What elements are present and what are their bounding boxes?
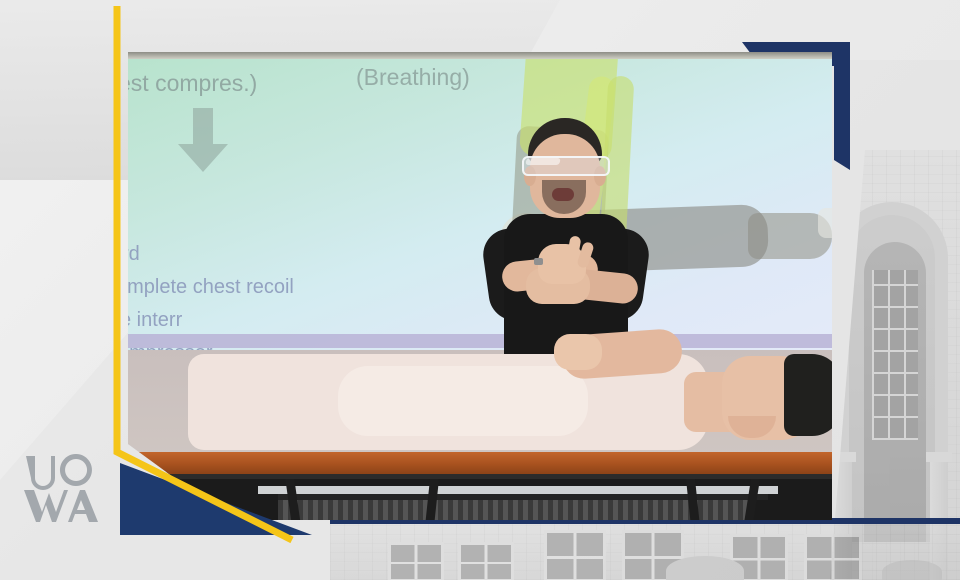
shrub [882, 560, 942, 580]
column-capital-right [926, 452, 952, 462]
uowa-logo-mark [22, 452, 108, 524]
building-window [804, 534, 862, 580]
main-photo: est compres.) (Breathing) t rd omplete c… [128, 52, 832, 520]
banner-canvas: est compres.) (Breathing) t rd omplete c… [0, 0, 960, 580]
building-window [458, 542, 514, 580]
slide-bullet-4: e interr [128, 309, 182, 332]
clipart-victim-foot [818, 208, 832, 238]
participant-shirt-fold [338, 366, 588, 436]
uowa-logo [22, 452, 108, 524]
instructor-mouth [552, 188, 574, 201]
instructor-ring [534, 258, 543, 265]
down-arrow-icon [176, 108, 230, 174]
participant-figure [188, 332, 832, 462]
arch-window [872, 270, 918, 440]
slide-title-right: (Breathing) [356, 64, 470, 91]
participant-hair [784, 354, 832, 436]
participant-hands [554, 334, 602, 370]
table-top [128, 452, 832, 474]
building-window [388, 542, 444, 580]
photo-top-edge [128, 52, 832, 59]
slide-bullet-3: omplete chest recoil [128, 276, 294, 299]
building-window [544, 530, 606, 580]
background-slats [278, 500, 748, 520]
shrub [666, 556, 744, 580]
goggles-highlight [525, 158, 560, 165]
slide-title-left: est compres.) [128, 70, 257, 97]
slide-bullet-2: rd [128, 243, 140, 266]
campus-building-watermark-bottom [330, 520, 960, 580]
background-rail [258, 486, 778, 494]
